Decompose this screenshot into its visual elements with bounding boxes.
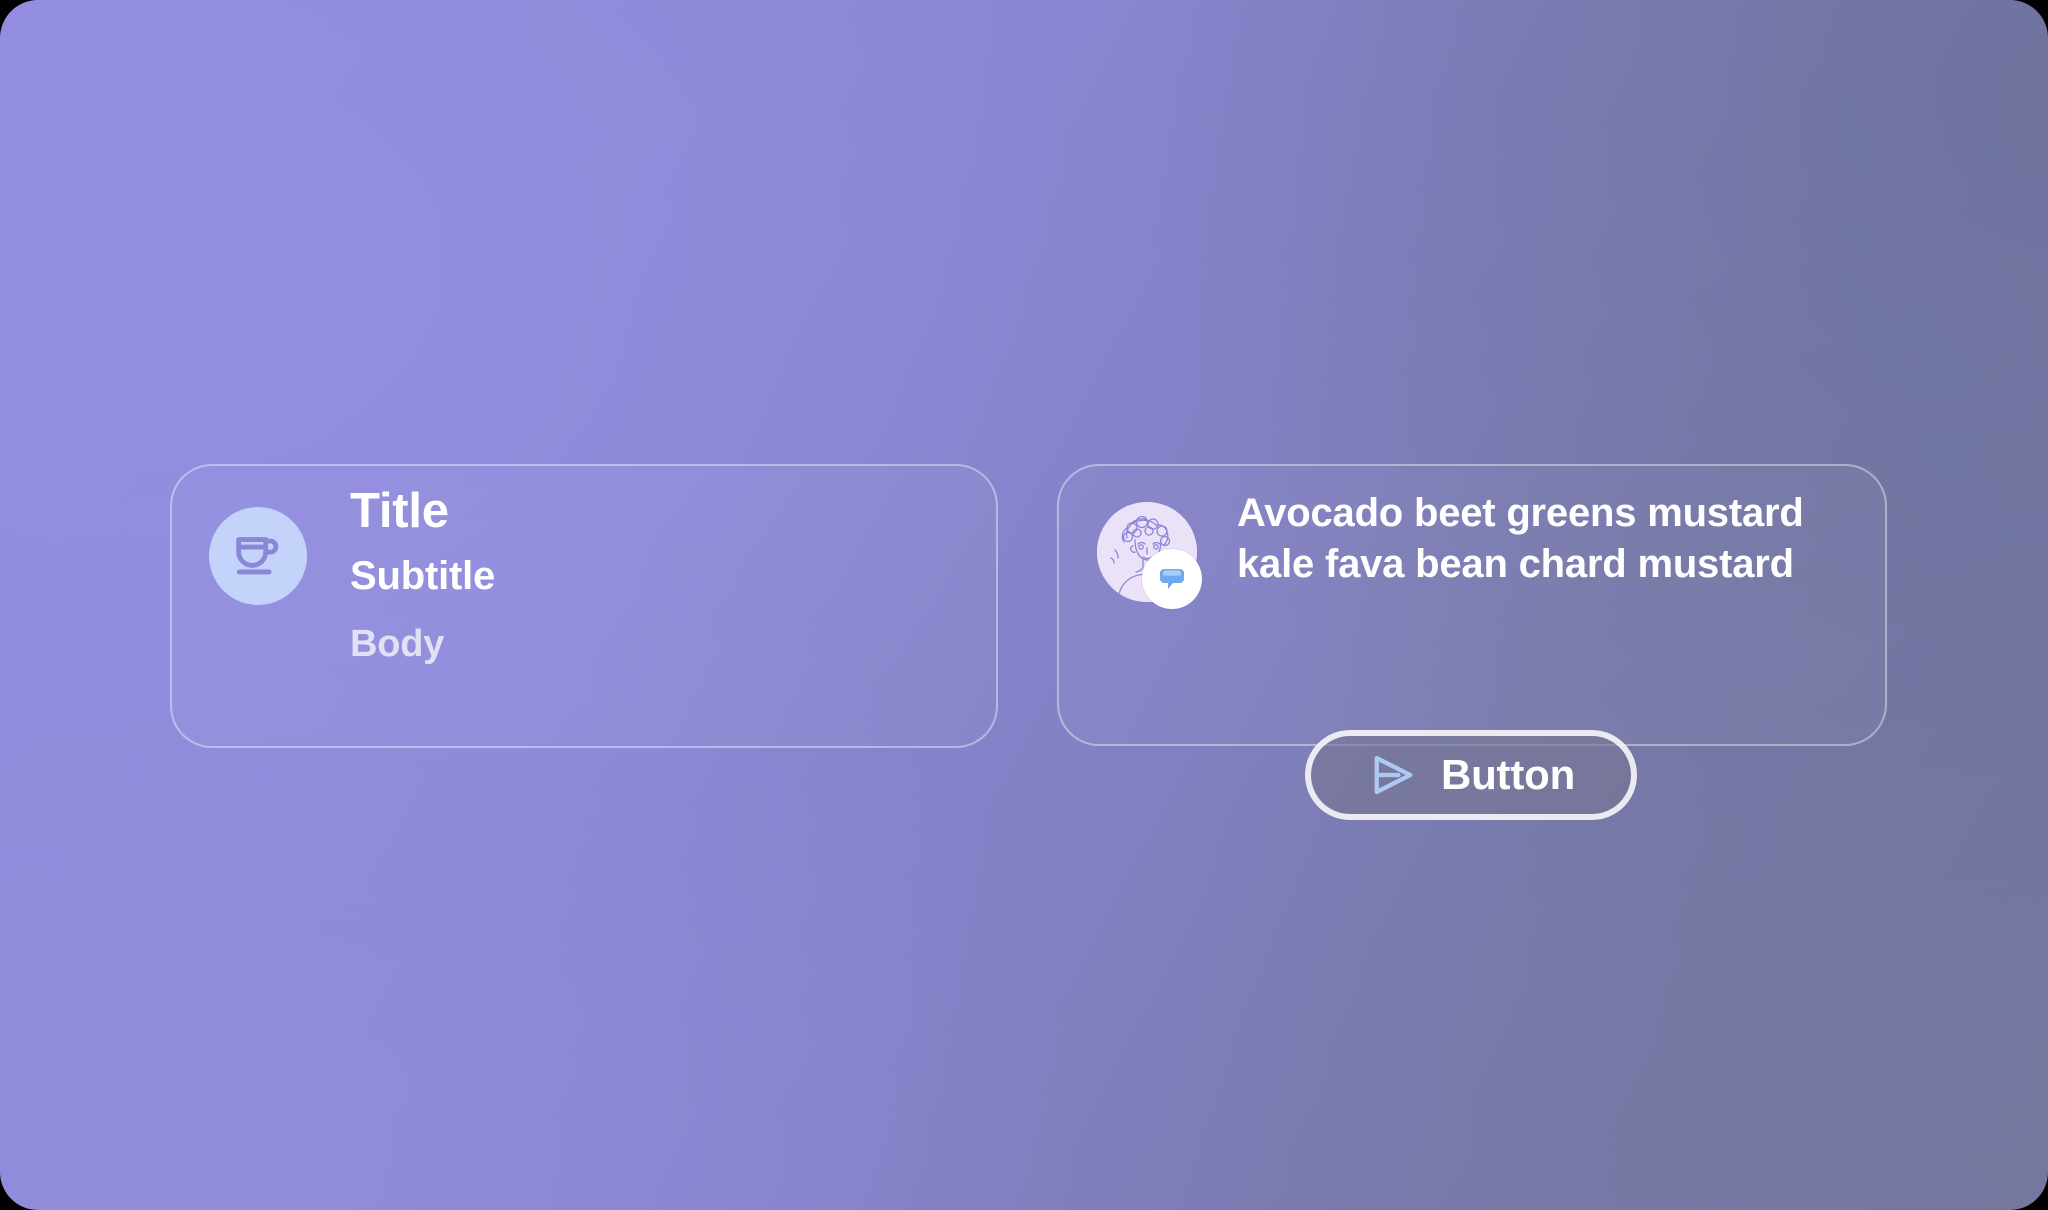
card-body: Body xyxy=(350,622,950,667)
info-card[interactable]: Title Subtitle Body xyxy=(170,464,998,748)
avatar[interactable] xyxy=(1097,502,1197,602)
chat-bubble-icon xyxy=(1152,559,1192,599)
card-title: Title xyxy=(350,484,950,539)
message-card[interactable]: Avocado beet greens mustard kale fava be… xyxy=(1057,464,1887,746)
card-subtitle: Subtitle xyxy=(350,553,950,600)
send-button[interactable]: Button xyxy=(1305,730,1637,820)
coffee-cup-icon xyxy=(229,527,287,585)
info-card-text-block: Title Subtitle Body xyxy=(350,484,950,667)
message-text: Avocado beet greens mustard kale fava be… xyxy=(1237,488,1857,590)
send-arrow-icon xyxy=(1367,749,1419,801)
chat-bubble-badge xyxy=(1142,549,1202,609)
screen-canvas: Title Subtitle Body xyxy=(0,0,2048,1210)
coffee-icon-circle xyxy=(209,507,307,605)
send-button-label: Button xyxy=(1441,754,1575,796)
